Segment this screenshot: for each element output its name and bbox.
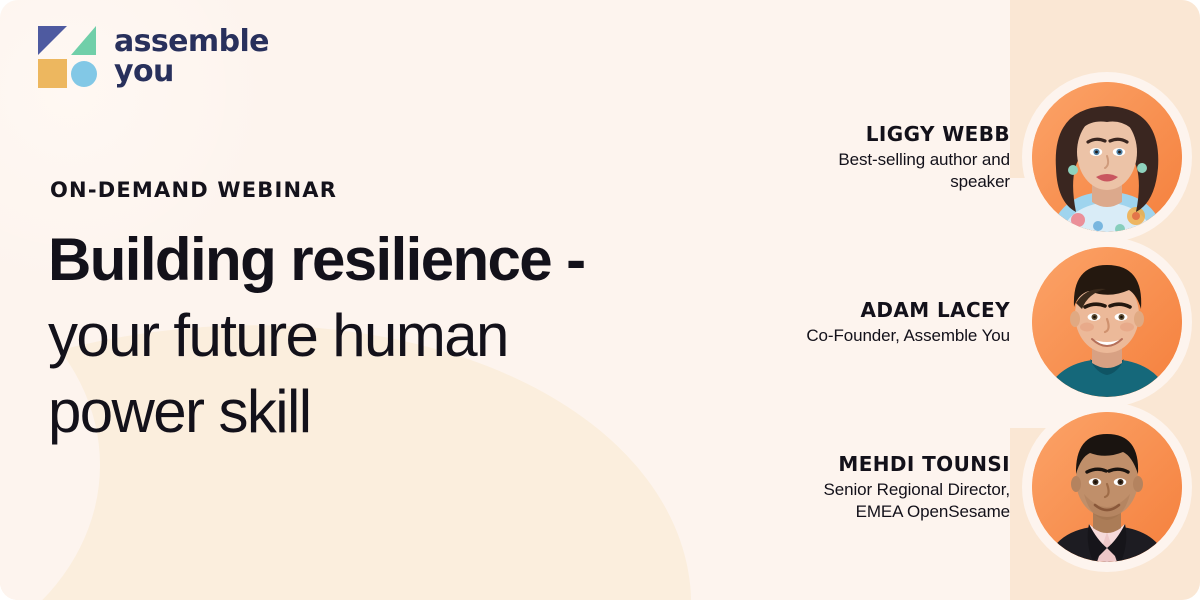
speaker-text: LIGGY WEBB Best-selling author and speak… [780,122,1032,193]
brand-wordmark-line1: assemble [114,27,269,57]
speaker-item: ADAM LACEY Co-Founder, Assemble You [780,247,1182,397]
speaker-list: LIGGY WEBB Best-selling author and speak… [780,0,1200,600]
speaker-text: ADAM LACEY Co-Founder, Assemble You [806,298,1032,347]
circle-blue-icon [71,61,97,87]
speaker-name: MEHDI TOUNSI [824,452,1010,476]
avatar-adam-lacey [1032,247,1182,397]
brand-logo[interactable]: assemble you [38,26,269,88]
speaker-role: Best-selling author and speaker [780,149,1010,193]
speaker-role-line1: Best-selling author and speaker [780,149,1010,193]
triangle-green-icon [71,26,96,55]
avatar-wrap [1032,247,1182,397]
page-title-line3: power skill [48,374,708,450]
triangle-blue-icon [38,26,67,55]
speaker-text: MEHDI TOUNSI Senior Regional Director, E… [824,452,1032,523]
speaker-name: ADAM LACEY [806,298,1010,322]
avatar-mehdi-tounsi [1032,412,1182,562]
speaker-name: LIGGY WEBB [780,122,1010,146]
brand-wordmark: assemble you [114,27,269,86]
page-title-line2: your future human [48,298,708,374]
avatar-wrap [1032,82,1182,232]
page-title: Building resilience - your future human … [48,222,708,450]
logo-mark [38,26,96,88]
brand-wordmark-line2: you [114,57,269,87]
speaker-role: Co-Founder, Assemble You [806,325,1010,347]
page-title-line1: Building resilience - [48,222,708,298]
speaker-role-line1: Senior Regional Director, [824,479,1010,501]
speaker-role-line2: EMEA OpenSesame [824,501,1010,523]
webinar-promo-banner: assemble you ON-DEMAND WEBINAR Building … [0,0,1200,600]
speaker-role: Senior Regional Director, EMEA OpenSesam… [824,479,1010,523]
avatar-liggy-webb [1032,82,1182,232]
square-yellow-icon [38,59,67,88]
speaker-role-line1: Co-Founder, Assemble You [806,325,1010,347]
avatar-wrap [1032,412,1182,562]
speaker-item: MEHDI TOUNSI Senior Regional Director, E… [780,412,1182,562]
eyebrow-label: ON-DEMAND WEBINAR [50,178,337,202]
speaker-item: LIGGY WEBB Best-selling author and speak… [780,82,1182,232]
